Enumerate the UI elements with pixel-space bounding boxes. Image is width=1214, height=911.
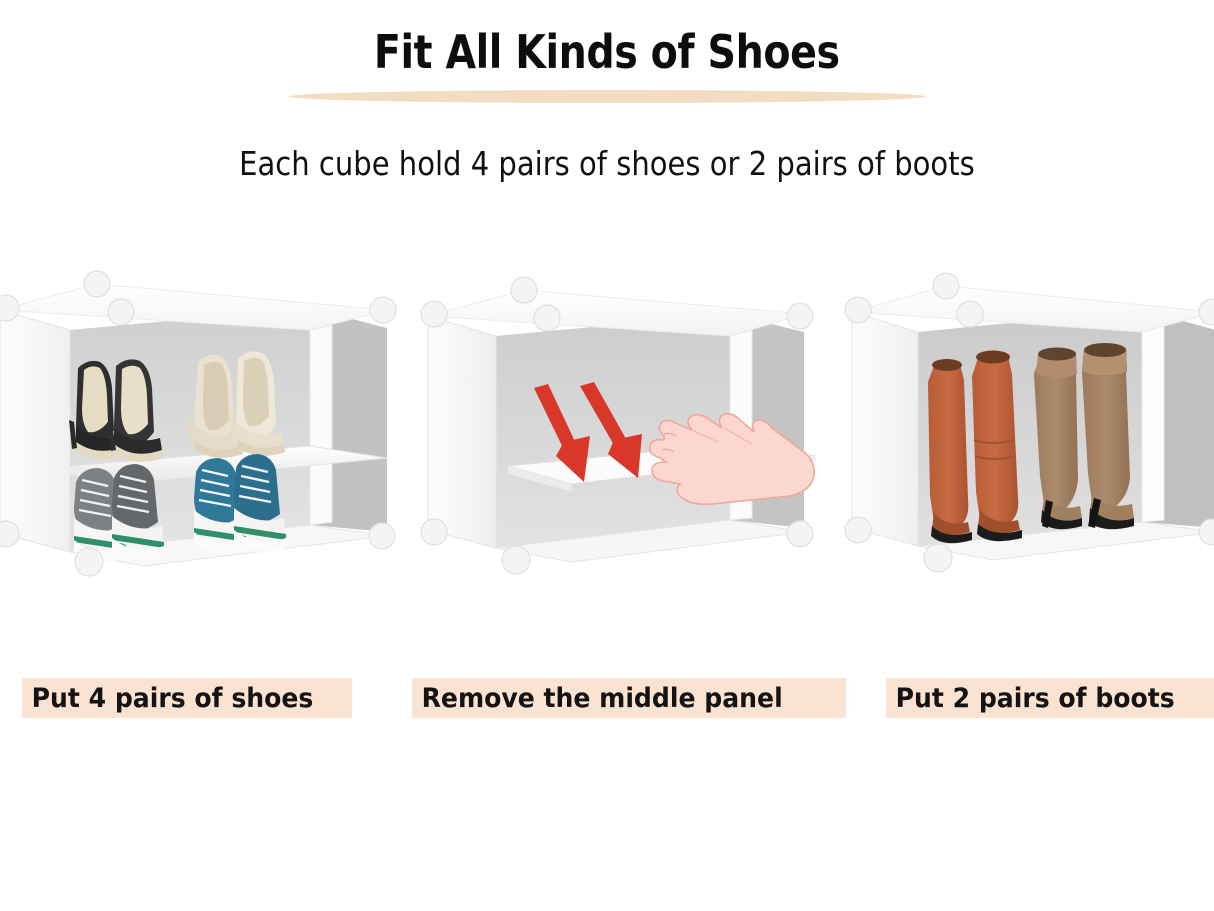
cube-left-panel — [0, 310, 70, 552]
subtitle-block: Each cube hold 4 pairs of shoes or 2 pai… — [0, 144, 1214, 183]
panel-boots — [842, 270, 1214, 610]
cube-divider-panel — [1142, 326, 1164, 522]
page-title: Fit All Kinds of Shoes — [374, 28, 840, 76]
cube-divider-panel — [310, 325, 332, 525]
caption-text-boots: Put 2 pairs of boots — [890, 683, 1175, 714]
cube-left-panel — [852, 312, 918, 546]
caption-band-shoes: Put 4 pairs of shoes — [22, 678, 352, 718]
panel-remove-middle — [412, 270, 820, 610]
panels-row — [0, 270, 1214, 610]
title-underline-highlight — [289, 90, 926, 103]
caption-band-remove: Remove the middle panel — [412, 678, 846, 718]
infographic-page: Fit All Kinds of Shoes Each cube hold 4 … — [0, 0, 1214, 911]
cube-left-panel — [428, 316, 496, 548]
caption-text-remove: Remove the middle panel — [416, 683, 783, 714]
title-block: Fit All Kinds of Shoes — [0, 28, 1214, 76]
caption-band-boots: Put 2 pairs of boots — [886, 678, 1214, 718]
caption-text-shoes: Put 4 pairs of shoes — [26, 683, 313, 714]
page-subtitle: Each cube hold 4 pairs of shoes or 2 pai… — [239, 144, 975, 183]
panel-shoes — [0, 270, 400, 610]
